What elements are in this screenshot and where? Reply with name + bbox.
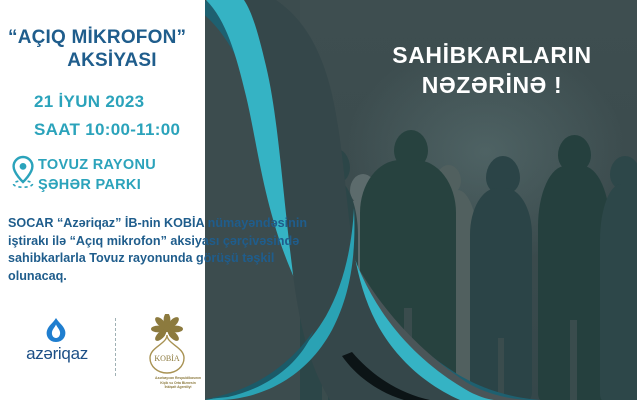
- azeriqaz-wordmark: azəriqaz: [16, 344, 98, 364]
- azeriqaz-logo: azəriqaz: [16, 318, 98, 374]
- kobia-mark-text: KOBİA: [154, 354, 180, 363]
- kobia-flower-icon: KOBİA: [134, 314, 200, 378]
- kobia-subtitle: Azərbaycan Respublikasının Kiçik və Orta…: [134, 376, 222, 390]
- headline-line-1: SAHİBKARLARIN: [352, 40, 632, 70]
- event-description: SOCAR “Azəriqaz” İB-nin KOBİA nümayəndəs…: [8, 215, 330, 285]
- headline: SAHİBKARLARIN NƏZƏRİNƏ !: [352, 40, 632, 100]
- event-time: SAAT 10:00-11:00: [34, 120, 180, 140]
- headline-line-2: NƏZƏRİNƏ !: [352, 70, 632, 100]
- title-line-1: “AÇIQ MİKROFON”: [8, 26, 198, 49]
- event-date: 21 İYUN 2023: [34, 92, 144, 112]
- location-line-1: TOVUZ RAYONU: [38, 155, 156, 175]
- gas-flame-icon: [44, 318, 68, 344]
- event-location: TOVUZ RAYONU ŞƏHƏR PARKI: [38, 155, 156, 195]
- logo-row: azəriqaz KOBİA: [0, 310, 230, 400]
- title-line-2: AKSİYASI: [8, 49, 198, 72]
- logo-divider: [115, 318, 116, 376]
- left-content: “AÇIQ MİKROFON” AKSİYASI 21 İYUN 2023 SA…: [0, 0, 340, 400]
- map-pin-icon: [10, 155, 36, 189]
- kobia-logo: KOBİA Azərbaycan Respublikasının Kiçik v…: [134, 314, 200, 400]
- kobia-subtitle-line-3: İnkişafı Agentliyi: [134, 385, 222, 390]
- poster-canvas: “AÇIQ MİKROFON” AKSİYASI 21 İYUN 2023 SA…: [0, 0, 637, 400]
- location-line-2: ŞƏHƏR PARKI: [38, 175, 156, 195]
- page-title: “AÇIQ MİKROFON” AKSİYASI: [8, 26, 198, 72]
